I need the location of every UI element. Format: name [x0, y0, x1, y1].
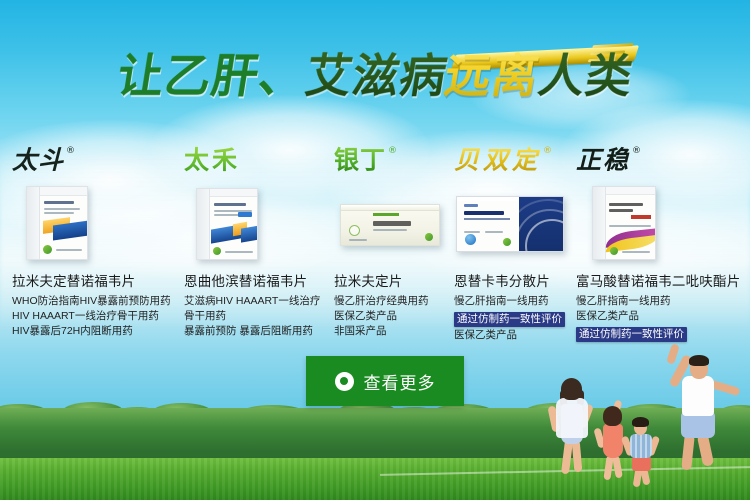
brand-name: 太禾 [184, 145, 240, 174]
box-graphic-green [373, 213, 399, 216]
feature-item: 医保乙类产品 [334, 309, 442, 323]
box-lid [341, 205, 439, 211]
feature-item: 慢乙肝指南一线用药 [576, 294, 750, 308]
brand-name: 正稳 [576, 145, 630, 174]
trademark-icon: ® [66, 146, 76, 156]
brand-logo: 太斗® [12, 140, 172, 174]
product-features: 慢乙肝指南一线用药 医保乙类产品 通过仿制药一致性评价 [576, 294, 750, 343]
product-card[interactable]: 银丁® 拉米夫定片 慢乙肝治疗经典用药 医保乙类产品 非国采产品 [322, 140, 442, 340]
product-features: WHO防治指南HIV暴露前预防用药 HIV HAAART一线治疗骨干用药 HIV… [12, 294, 172, 338]
feature-badge: 通过仿制药一致性评价 [454, 312, 565, 327]
feature-item: HIV HAAART一线治疗骨干用药 [12, 309, 172, 323]
feature-item: 暴露前预防 暴露后阻断用药 [184, 324, 322, 338]
view-more-label: 查看更多 [364, 369, 436, 394]
product-image [454, 186, 564, 262]
headline-part-2: 艾滋病 [299, 36, 453, 116]
box-side-panel [27, 187, 40, 259]
product-card[interactable]: 太斗® [0, 140, 172, 340]
product-features: 慢乙肝治疗经典用药 医保乙类产品 非国采产品 [334, 294, 442, 338]
product-features: 慢乙肝指南一线用药 通过仿制药一致性评价 医保乙类产品 [454, 294, 564, 342]
headline-part-1: 让乙肝、 [111, 36, 312, 116]
feature-item: 慢乙肝指南一线用药 [454, 294, 564, 308]
product-card[interactable]: 正稳® [564, 140, 750, 340]
feature-item: HIV暴露后72H内阻断用药 [12, 324, 172, 338]
product-card[interactable]: 太禾® [172, 140, 322, 340]
box-company-logo [213, 247, 221, 255]
box-company-logo [503, 238, 511, 246]
brand-name: 贝双定 [454, 145, 541, 174]
product-image [12, 186, 172, 262]
headline: 让乙肝、艾滋病远离人类 [0, 36, 750, 116]
brand-logo: 银丁® [334, 140, 442, 174]
feature-item: 骨干用药 [184, 309, 322, 323]
medicine-box [340, 204, 440, 246]
box-company-logo [610, 247, 618, 255]
box-side-panel [593, 187, 606, 259]
box-side-panel [197, 189, 210, 259]
box-company-logo [43, 245, 52, 254]
box-graphic-bar [631, 215, 651, 219]
brand-logo: 太禾® [184, 140, 322, 174]
product-features: 艾滋病HIV HAAART一线治疗 骨干用药 暴露前预防 暴露后阻断用药 [184, 294, 322, 338]
view-more-button[interactable]: 查看更多 [306, 356, 464, 406]
feature-item: 非国采产品 [334, 324, 442, 338]
product-name: 恩曲他滨替诺福韦片 [184, 270, 322, 290]
headline-part-3: 远离 [438, 36, 545, 116]
product-image [576, 186, 750, 262]
box-seal [349, 225, 360, 236]
box-graphic-badge [238, 212, 252, 217]
medicine-box [456, 196, 564, 252]
product-name: 拉米夫定替诺福韦片 [12, 270, 172, 290]
trademark-icon: ® [543, 146, 556, 156]
medicine-box [196, 188, 258, 260]
product-name: 富马酸替诺福韦二吡呋酯片 [576, 270, 750, 290]
brand-name: 银丁 [334, 145, 386, 174]
eye-icon [335, 372, 354, 391]
box-lid [210, 189, 257, 197]
box-lid [40, 187, 87, 196]
brand-logo: 正稳® [576, 140, 750, 174]
feature-item: 艾滋病HIV HAAART一线治疗 [184, 294, 322, 308]
box-graphic-dot [465, 234, 476, 245]
box-graphic-navy [519, 197, 563, 251]
box-title-text [464, 211, 504, 215]
product-list: 太斗® [0, 140, 750, 340]
box-company-logo [425, 233, 433, 241]
box-graphic-blue [241, 225, 258, 242]
medicine-box [26, 186, 88, 260]
headline-part-4: 人类 [532, 36, 639, 116]
product-name: 拉米夫定片 [334, 270, 442, 290]
product-name: 恩替卡韦分散片 [454, 270, 564, 290]
trademark-icon: ® [632, 146, 643, 156]
product-card[interactable]: 贝双定® 恩 [442, 140, 564, 340]
box-lid [606, 187, 655, 195]
box-subtitle-text [464, 218, 510, 220]
box-lid [457, 197, 519, 201]
feature-item: WHO防治指南HIV暴露前预防用药 [12, 294, 172, 308]
brand-name: 太斗 [12, 145, 64, 174]
brand-logo: 贝双定® [454, 140, 564, 174]
figure-man [652, 346, 744, 474]
medicine-box [592, 186, 656, 260]
feature-item: 慢乙肝治疗经典用药 [334, 294, 442, 308]
feature-item: 医保乙类产品 [576, 309, 750, 323]
family-photo [548, 340, 750, 480]
trademark-icon: ® [242, 146, 254, 156]
product-image [334, 186, 442, 262]
banner-stage: 让乙肝、艾滋病远离人类 太斗® [0, 0, 750, 500]
trademark-icon: ® [388, 146, 398, 156]
product-image [184, 186, 322, 262]
